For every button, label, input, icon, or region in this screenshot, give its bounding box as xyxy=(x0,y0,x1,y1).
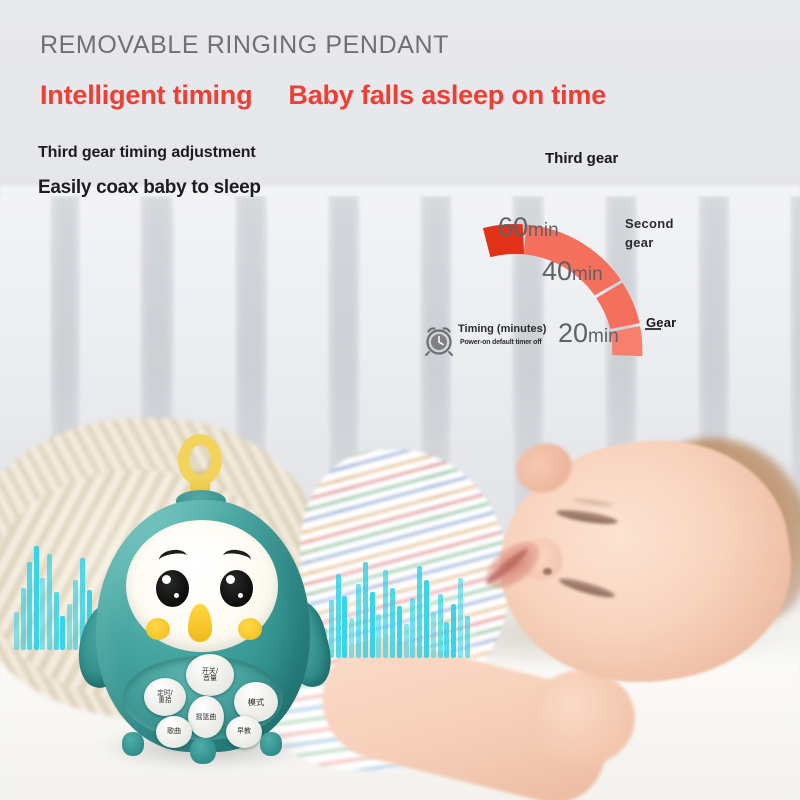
sound-wave-bar xyxy=(67,604,72,650)
sound-wave-bar xyxy=(376,614,381,658)
gauge-tick-60-value: 60 xyxy=(498,212,528,242)
penguin-sleep-soother: 开关/ 音量定时/ 重拾模式摇篮曲歌曲早教 xyxy=(78,432,328,772)
headline-left: Intelligent timing xyxy=(40,80,252,110)
toy-foot-left xyxy=(122,732,144,756)
sound-wave-bar xyxy=(424,580,429,658)
early-education-button-label: 早教 xyxy=(237,728,251,735)
gauge-tick-40-value: 40 xyxy=(542,256,572,286)
sound-wave-bar xyxy=(404,624,409,658)
gauge-label-second-gear: Second gear xyxy=(625,215,705,253)
subheadline-2: Easily coax baby to sleep xyxy=(38,177,261,199)
early-education-button[interactable]: 早教 xyxy=(226,716,262,748)
timing-annotation: Timing (minutes) Power-on default timer … xyxy=(420,323,570,371)
sound-wave-bar xyxy=(60,616,65,650)
sound-wave-bar xyxy=(363,562,368,658)
gauge-tick-60: 60min xyxy=(498,212,559,243)
sound-wave-bar xyxy=(356,584,361,658)
sound-wave-bar xyxy=(397,606,402,658)
sound-wave-bar xyxy=(431,612,436,658)
toy-eye-glint-left-small xyxy=(174,593,179,598)
toy-eye-right xyxy=(220,570,253,607)
toy-eye-glint-right-small xyxy=(238,593,243,598)
toy-cheek-left xyxy=(146,618,170,640)
power-volume-button-label: 开关/ 音量 xyxy=(202,668,218,682)
toy-eye-left xyxy=(156,570,189,607)
sound-wave-bar xyxy=(47,554,52,650)
song-button-label: 歌曲 xyxy=(167,728,181,735)
lullaby-button[interactable]: 摇篮曲 xyxy=(188,696,224,738)
toy-eye-glint-left xyxy=(162,575,171,584)
timing-label: Timing (minutes) xyxy=(458,323,546,335)
gauge-label-third-gear: Third gear xyxy=(545,150,618,167)
sound-wave-bar xyxy=(451,604,456,658)
subheadline-1: Third gear timing adjustment xyxy=(38,144,256,162)
power-volume-button[interactable]: 开关/ 音量 xyxy=(186,654,234,696)
sound-wave-right xyxy=(322,518,472,658)
gauge-tick-40-unit: min xyxy=(572,264,603,285)
sound-wave-bar xyxy=(27,562,32,650)
sound-wave-bar xyxy=(458,578,463,658)
song-button[interactable]: 歌曲 xyxy=(156,716,192,748)
gauge-label-gear: Gear xyxy=(646,315,676,330)
sound-wave-bar xyxy=(390,588,395,658)
sound-wave-bar xyxy=(438,594,443,658)
baby-nostril xyxy=(543,568,552,575)
toy-foot-center xyxy=(190,738,216,764)
sound-wave-bar xyxy=(410,598,415,658)
page-eyebrow: REMOVABLE RINGING PENDANT xyxy=(40,31,449,60)
gauge-tick-40: 40min xyxy=(542,256,603,287)
sound-wave-bar xyxy=(417,566,422,658)
gauge-tick-20-unit: min xyxy=(588,326,619,347)
sound-wave-bar xyxy=(54,592,59,650)
sound-wave-bar xyxy=(370,592,375,658)
sound-wave-bar xyxy=(34,546,39,650)
alarm-clock-icon xyxy=(422,323,456,357)
mode-button-label: 模式 xyxy=(248,698,264,706)
sound-wave-bar xyxy=(336,574,341,658)
gauge-tick-60-unit: min xyxy=(528,220,559,241)
timer-button-label: 定时/ 重拾 xyxy=(157,690,172,703)
product-marketing-image: 开关/ 音量定时/ 重拾模式摇篮曲歌曲早教 REMOVABLE RINGING … xyxy=(0,0,800,800)
sound-wave-bar xyxy=(349,618,354,658)
sound-wave-bar xyxy=(14,612,19,650)
toy-eye-glint-right xyxy=(226,575,235,584)
baby-fist xyxy=(530,670,635,766)
timer-button[interactable]: 定时/ 重拾 xyxy=(144,678,186,716)
sound-wave-bar xyxy=(40,578,45,650)
toy-cheek-right xyxy=(238,618,262,640)
timing-gauge: Third gear Second gear Gear 60min 40min … xyxy=(420,140,800,380)
sound-wave-bar xyxy=(465,616,470,658)
toy-foot-right xyxy=(260,732,282,756)
sound-wave-bar xyxy=(21,588,26,650)
page-headline: Intelligent timingBaby falls asleep on t… xyxy=(40,80,606,111)
timing-note: Power-on default timer off xyxy=(460,339,542,346)
sound-wave-bar xyxy=(342,596,347,658)
lullaby-button-label: 摇篮曲 xyxy=(196,714,216,721)
headline-right: Baby falls asleep on time xyxy=(288,80,606,110)
sound-wave-bar xyxy=(383,570,388,658)
sound-wave-bar xyxy=(444,622,449,658)
